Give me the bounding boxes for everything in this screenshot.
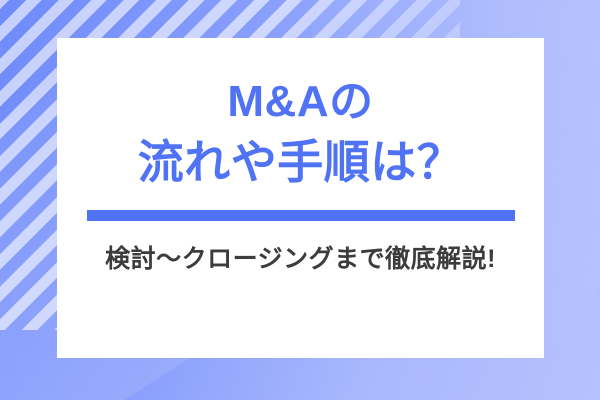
subtitle-text: 検討〜クロージングまで徹底解説! xyxy=(105,243,496,275)
title-block: M&Aの 流れや手順は？ xyxy=(57,72,544,192)
title-divider-bar xyxy=(87,210,515,221)
title-line-2: 流れや手順は？ xyxy=(57,132,544,192)
banner-root: M&Aの 流れや手順は？ 検討〜クロージングまで徹底解説! xyxy=(0,0,600,400)
content-card: M&Aの 流れや手順は？ 検討〜クロージングまで徹底解説! xyxy=(57,38,544,358)
title-line-1: M&Aの xyxy=(57,72,544,132)
